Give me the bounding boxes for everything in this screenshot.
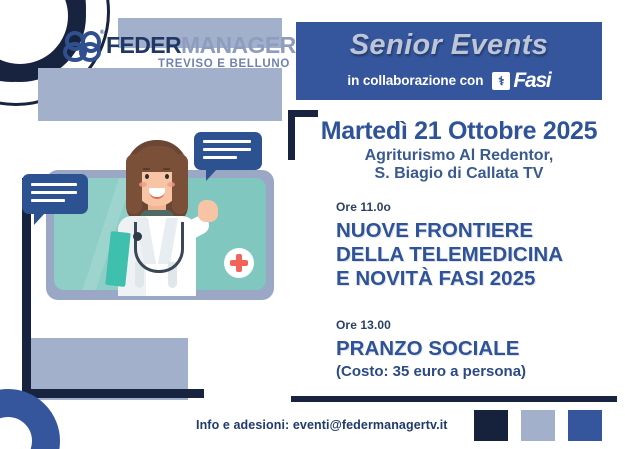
chat-bubble-line [31, 183, 77, 186]
doctor-eye-left [145, 174, 149, 179]
doctor-cheek-left [139, 182, 147, 187]
chat-bubble-right-icon [194, 132, 262, 170]
logo-word-manager: MANAGER [181, 32, 296, 58]
chat-bubble-line [31, 191, 77, 194]
swatch-blue [568, 410, 602, 441]
chat-bubble-line [31, 199, 65, 202]
logo-word-feder: FEDER [106, 32, 181, 58]
doctor-waving-hand [198, 200, 218, 222]
chat-bubble-line [203, 148, 251, 151]
swatch-light-blue-grey [521, 410, 555, 441]
federmanager-infinity-mark-icon [62, 30, 104, 62]
chat-bubble-line [203, 156, 237, 159]
session-title: PRANZO SOCIALE [336, 337, 616, 361]
event-venue-line2: S. Biagio di Callata TV [300, 165, 618, 183]
stethoscope-tube-icon [134, 222, 184, 273]
chat-bubble-tail [206, 169, 217, 181]
doctor-eyebrow-right [163, 168, 170, 170]
logo-subtitle: TREVISO E BELLUNO [158, 59, 290, 71]
footer-contact-info: Info e adesioni: eventi@federmanagertv.i… [196, 418, 448, 432]
doctor-eyebrow-left [143, 168, 150, 170]
session-time: Ore 11.0o [336, 200, 616, 214]
federmanager-logo: ® FEDERMANAGER TREVISO E BELLUNO [62, 28, 278, 80]
banner-title: Senior Events [296, 29, 602, 62]
chat-bubble-left-icon [22, 174, 88, 214]
registered-mark: ® [100, 30, 104, 36]
medical-cross-horizontal-icon [230, 260, 248, 266]
doctor-eye-right [165, 174, 169, 179]
fasi-logo: ⚕ Fasi [492, 70, 550, 91]
session-block: Ore 11.0o NUOVE FRONTIEREDELLA TELEMEDIC… [336, 200, 616, 292]
event-date: Martedì 21 Ottobre 2025 [300, 118, 618, 144]
doctor-cheek-right [167, 182, 175, 187]
swatch-navy [474, 410, 508, 441]
session-title: NUOVE FRONTIEREDELLA TELEMEDICINAE NOVIT… [336, 219, 616, 292]
banner-subtitle: in collaborazione con [347, 73, 483, 88]
session-time: Ore 13.00 [336, 318, 616, 332]
session-block: Ore 13.00 PRANZO SOCIALE (Costo: 35 euro… [336, 318, 616, 380]
banner-subtitle-row: in collaborazione con ⚕ Fasi [296, 70, 602, 91]
chat-bubble-tail [34, 213, 45, 225]
stethoscope-bell-icon [133, 232, 142, 241]
telemedicine-illustration [14, 132, 286, 308]
fasi-wordmark: Fasi [513, 70, 550, 91]
caduceus-icon: ⚕ [495, 74, 507, 88]
fasi-badge-icon: ⚕ [492, 72, 510, 90]
event-date-block: Martedì 21 Ottobre 2025 Agriturismo Al R… [300, 118, 618, 183]
event-venue: Agriturismo Al Redentor, S. Biagio di Ca… [300, 147, 618, 183]
poster-canvas: ® FEDERMANAGER TREVISO E BELLUNO [0, 0, 625, 449]
event-venue-line1: Agriturismo Al Redentor, [300, 147, 618, 165]
logo-wordmark: FEDERMANAGER [106, 34, 296, 57]
session-note: (Costo: 35 euro a persona) [336, 363, 616, 380]
chat-bubble-line [203, 140, 251, 143]
event-series-banner: Senior Events in collaborazione con ⚕ Fa… [296, 22, 602, 100]
footer-divider [291, 396, 617, 402]
